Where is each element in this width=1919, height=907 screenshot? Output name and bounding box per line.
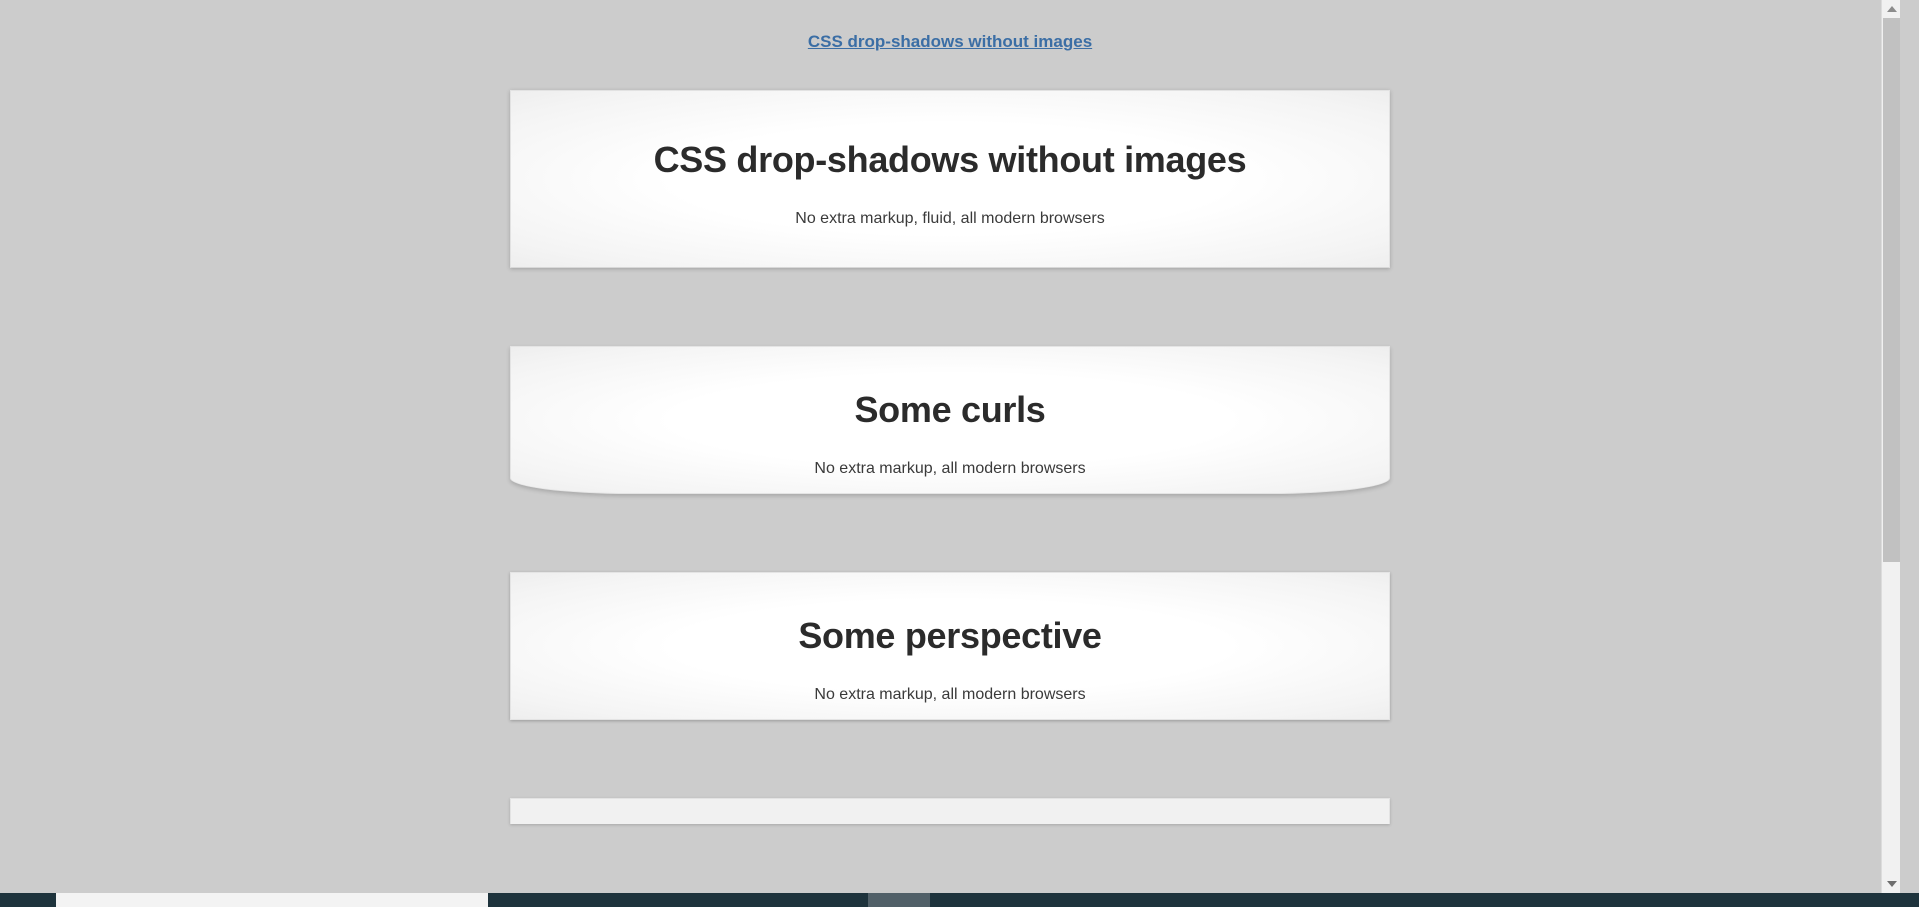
top-link-container: CSS drop-shadows without images (0, 32, 1900, 52)
taskbar-window-item[interactable] (868, 893, 930, 907)
card-curled: Some curls No extra markup, all modern b… (510, 346, 1390, 494)
vertical-scrollbar[interactable] (1881, 0, 1900, 893)
taskbar[interactable] (0, 893, 1919, 907)
page-content: CSS drop-shadows without images CSS drop… (0, 0, 1900, 824)
taskbar-segment-left (0, 893, 56, 907)
card-heading: Some curls (551, 387, 1349, 432)
card-perspective: Some perspective No extra markup, all mo… (510, 572, 1390, 720)
scroll-up-button[interactable] (1882, 0, 1900, 18)
scrollbar-thumb[interactable] (1883, 18, 1900, 562)
chevron-down-icon (1887, 881, 1897, 887)
card-subtitle: No extra markup, all modern browsers (551, 686, 1349, 704)
browser-viewport: CSS drop-shadows without images CSS drop… (0, 0, 1900, 893)
card-heading: CSS drop-shadows without images (551, 137, 1349, 182)
card-partial-next (510, 798, 1390, 824)
card-subtitle: No extra markup, all modern browsers (551, 460, 1349, 478)
card-heading: Some perspective (551, 613, 1349, 658)
taskbar-segment-right (930, 893, 1919, 907)
card-lifted-corners: CSS drop-shadows without images No extra… (510, 90, 1390, 268)
chevron-up-icon (1887, 6, 1897, 12)
taskbar-window-active[interactable] (56, 893, 488, 907)
page-title-link[interactable]: CSS drop-shadows without images (808, 32, 1092, 51)
card-subtitle: No extra markup, fluid, all modern brows… (551, 210, 1349, 228)
taskbar-segment-dark (488, 893, 868, 907)
scroll-down-button[interactable] (1882, 875, 1900, 893)
